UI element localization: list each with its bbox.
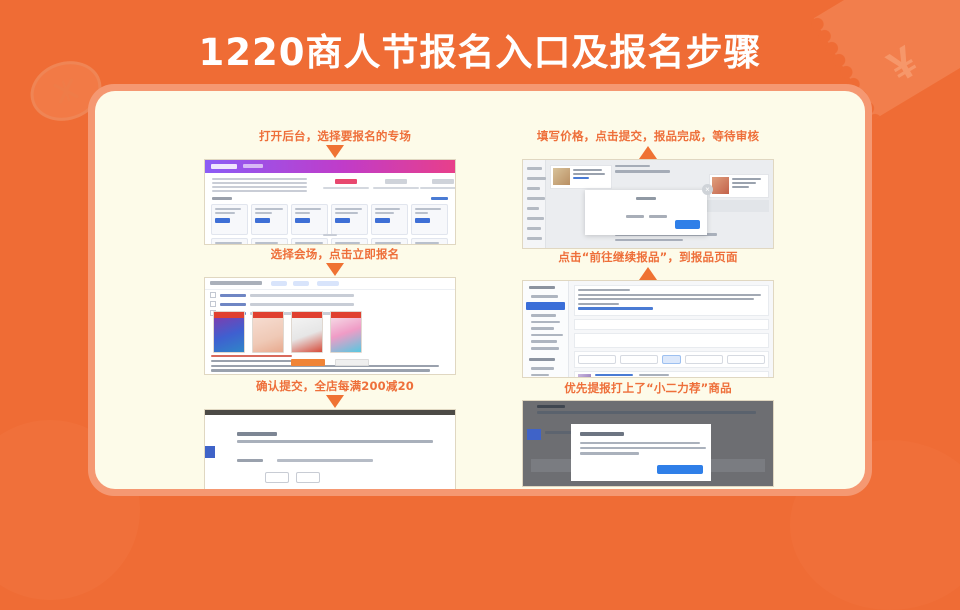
sidebar-item[interactable] [531, 314, 556, 317]
search-button[interactable] [662, 355, 681, 364]
apply-now-button[interactable] [291, 359, 325, 366]
step-4-arrow-up-icon [639, 146, 657, 159]
tab-item[interactable] [317, 281, 339, 286]
submit-button[interactable] [675, 220, 700, 229]
sidebar-item[interactable] [531, 367, 554, 370]
field-value [277, 459, 373, 462]
progress-step-2 [373, 179, 419, 189]
screenshot-price-submit-modal[interactable]: × [523, 160, 773, 248]
more-link[interactable] [431, 197, 448, 200]
site-logo [211, 164, 237, 169]
screenshot-campaign-venue-card-grid[interactable] [205, 160, 455, 244]
step-block-5: 点击“前往继续报品”，到报品页面 [503, 249, 793, 377]
product-card[interactable] [709, 174, 769, 198]
page-title: 1220商人节报名入口及报名步骤 [0, 22, 960, 76]
venue-row[interactable] [210, 301, 450, 307]
product-thumbnail [578, 374, 591, 377]
section-strip [574, 333, 769, 348]
dialog-title [636, 197, 656, 200]
product-info [732, 178, 766, 190]
step-6-label: 优先提报打上了“小二力荐”商品 [503, 380, 793, 396]
venue-mockup [213, 311, 245, 353]
dialog-message [585, 215, 707, 218]
venue-row[interactable] [210, 292, 450, 298]
page-top-bar [205, 278, 455, 290]
sidebar-item[interactable] [531, 327, 554, 330]
screenshot-recommend-products-modal[interactable] [523, 401, 773, 486]
screenshot-venue-selection[interactable] [205, 278, 455, 374]
intro-paragraph [212, 178, 307, 194]
sidebar-item[interactable] [531, 347, 559, 350]
product-detail [639, 374, 765, 377]
left-sidebar [523, 160, 546, 248]
dialog-body [219, 420, 447, 483]
product-card[interactable] [550, 165, 612, 189]
sidebar-item[interactable] [531, 374, 549, 377]
dialog-buttons [265, 472, 447, 483]
confirm-continue-button[interactable] [657, 465, 703, 474]
product-title [595, 374, 635, 377]
filter-select[interactable] [727, 355, 765, 364]
section-title [212, 197, 232, 200]
tab-item[interactable] [271, 281, 287, 286]
site-nav [243, 164, 263, 168]
step-1-label: 打开后台，选择要报名的专场 [205, 128, 465, 144]
venue-mockup [291, 311, 323, 353]
filter-select[interactable] [620, 355, 658, 364]
left-accent-marker [205, 446, 215, 458]
secondary-button[interactable] [335, 359, 369, 366]
product-thumbnail [712, 177, 729, 194]
notice-title [237, 432, 277, 436]
page-notice [537, 405, 763, 414]
page-heading [615, 165, 703, 176]
filter-select[interactable] [578, 355, 616, 364]
dialog-text [580, 442, 700, 444]
filter-select[interactable] [685, 355, 723, 364]
step-block-1: 打开后台，选择要报名的专场 [205, 128, 465, 244]
step-5-arrow-up-icon [639, 267, 657, 280]
step-5-label: 点击“前往继续报品”，到报品页面 [503, 249, 793, 265]
sidebar-item[interactable] [531, 321, 560, 324]
cancel-button[interactable] [296, 472, 320, 483]
notice-text [237, 440, 433, 443]
venue-mockup [252, 311, 284, 353]
screenshot-confirm-submit-dialog[interactable] [205, 410, 455, 489]
admin-sidebar [523, 281, 569, 377]
price-submit-dialog: × [585, 190, 707, 235]
confirm-button[interactable] [265, 472, 289, 483]
sidebar-item[interactable] [531, 340, 557, 343]
step-4-label: 填写价格，点击提交，报品完成，等待审核 [503, 128, 793, 144]
field-label [237, 459, 263, 462]
tab-item[interactable] [293, 281, 309, 286]
content-card: 打开后台，选择要报名的专场 [95, 91, 865, 489]
step-block-3: 确认提交，全店每满200减20 [205, 378, 465, 489]
step-3-arrow-down-icon [326, 395, 344, 408]
sidebar-item[interactable] [531, 334, 563, 337]
sidebar-item-active[interactable] [526, 302, 565, 310]
sidebar-heading [529, 286, 555, 289]
sidebar-heading [529, 358, 555, 361]
dialog-title-bar [205, 410, 455, 415]
dialog-text [580, 452, 639, 454]
section-strip [574, 319, 769, 330]
step-block-4: 填写价格，点击提交，报品完成，等待审核 × [503, 128, 793, 248]
filter-bar [574, 351, 769, 368]
step-block-2: 选择会场，点击立即报名 [205, 246, 465, 374]
product-thumbnail [553, 168, 570, 185]
screenshot-product-report-list[interactable] [523, 281, 773, 377]
progress-step-3 [420, 179, 455, 189]
admin-main-panel [570, 281, 773, 377]
venue-preview-mockups [213, 311, 362, 353]
close-icon[interactable]: × [702, 184, 713, 195]
step-1-arrow-down-icon [326, 145, 344, 158]
dialog-text [580, 447, 706, 449]
step-block-6: 优先提报打上了“小二力荐”商品 [503, 380, 793, 486]
recommend-dialog [571, 424, 711, 481]
step-2-label: 选择会场，点击立即报名 [205, 246, 465, 262]
pagination[interactable] [205, 223, 455, 241]
step-2-arrow-down-icon [326, 263, 344, 276]
product-info [573, 169, 609, 181]
step-3-label: 确认提交，全店每满200减20 [205, 378, 465, 394]
product-list [574, 371, 769, 377]
product-list-row[interactable] [575, 372, 768, 377]
progress-step-1 [323, 179, 369, 189]
discount-field-row [237, 459, 447, 462]
left-accent-marker [527, 429, 541, 440]
dialog-title [580, 432, 624, 436]
sidebar-item[interactable] [531, 295, 558, 298]
action-buttons [205, 353, 455, 371]
venue-mockup [330, 311, 362, 353]
notice-box [574, 285, 769, 316]
